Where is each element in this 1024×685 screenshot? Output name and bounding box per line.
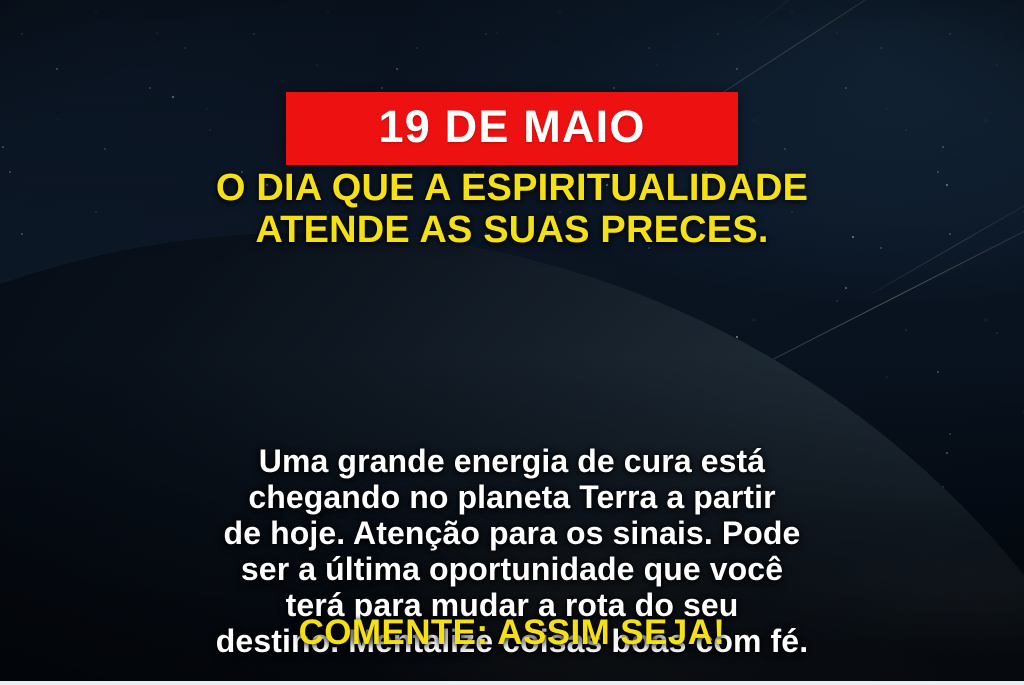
body-line-3: de hoje. Atenção para os sinais. Pode [0,515,1024,551]
date-banner: 19 DE MAIO [286,92,738,165]
bottom-edge-strip [0,681,1024,685]
headline-line-2: ATENDE AS SUAS PRECES. [0,209,1024,251]
call-to-action: COMENTE: ASSIM SEJA! [0,613,1024,653]
body-line-4: ser a última oportunidade que você [0,551,1024,587]
headline-line-1: O DIA QUE A ESPIRITUALIDADE [0,167,1024,209]
headline: O DIA QUE A ESPIRITUALIDADE ATENDE AS SU… [0,167,1024,251]
date-banner-label: 19 DE MAIO [320,100,704,153]
body-line-2: chegando no planeta Terra a partir [0,479,1024,515]
poster-canvas: 19 DE MAIO O DIA QUE A ESPIRITUALIDADE A… [0,0,1024,685]
poster-content: 19 DE MAIO O DIA QUE A ESPIRITUALIDADE A… [0,0,1024,685]
date-banner-row: 19 DE MAIO [0,92,1024,165]
body-line-1: Uma grande energia de cura está [0,443,1024,479]
